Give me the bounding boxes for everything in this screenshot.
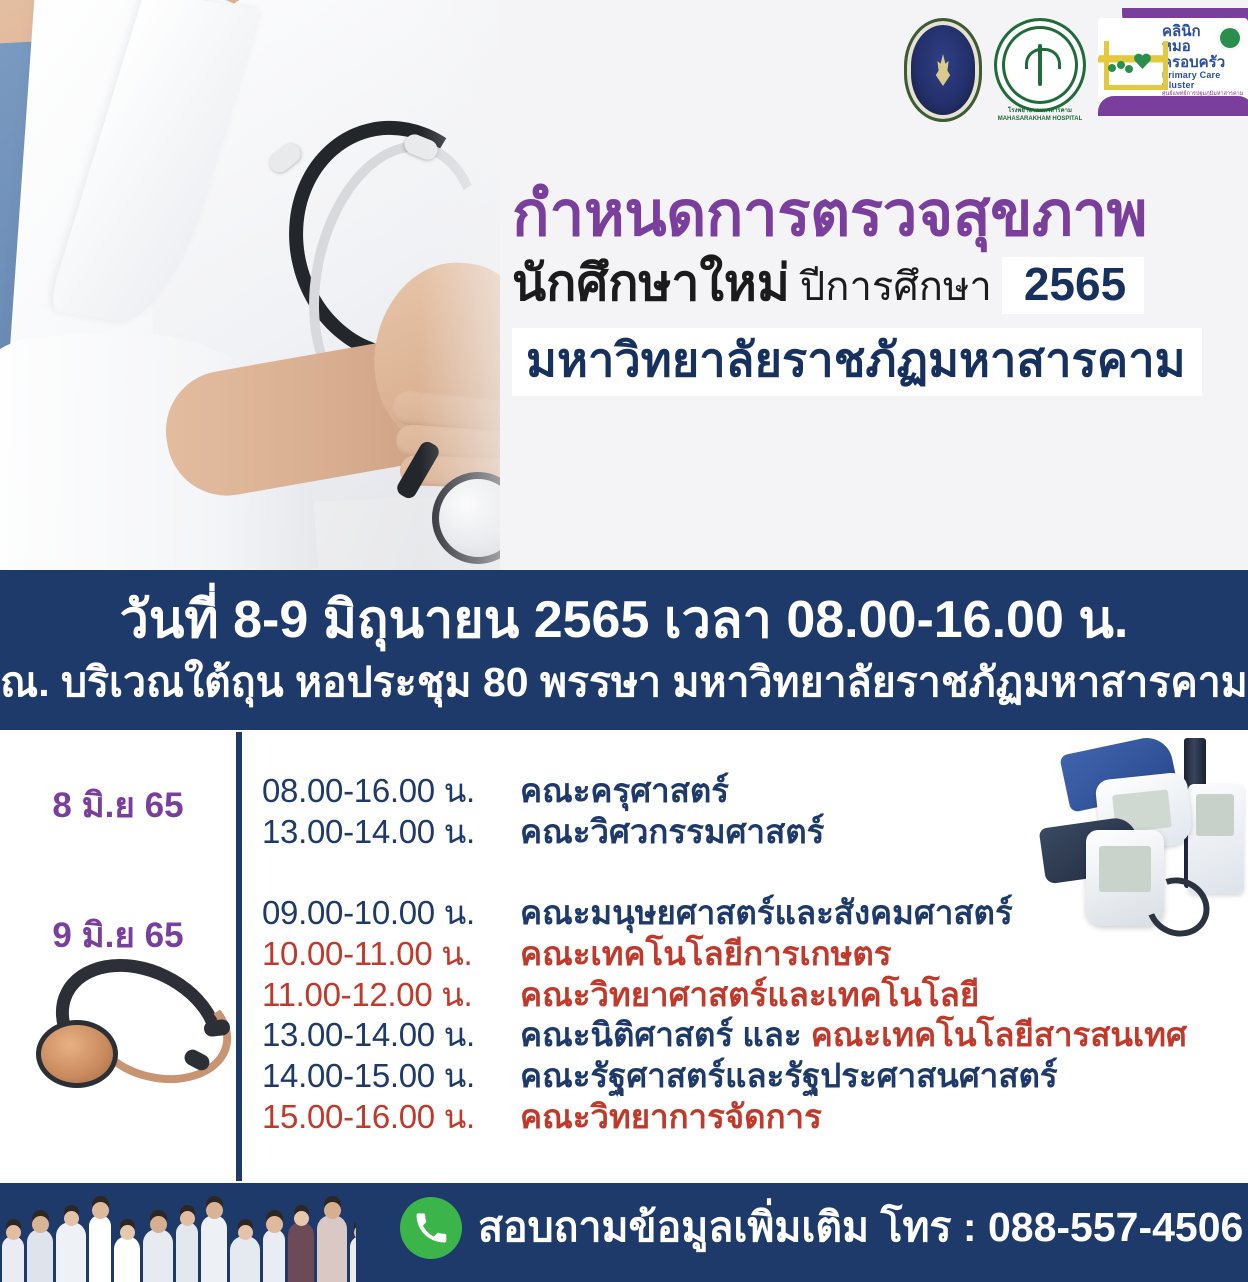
schedule-day-1: 8 มิ.ย 65 <box>0 778 236 833</box>
hospital-seal-icon <box>904 18 982 122</box>
row-time: 09.00-10.00 น. <box>262 896 520 930</box>
contact-text: สอบถามข้อมูลเพิ่มเติม โทร : 088-557-4506 <box>478 1205 1243 1250</box>
staff-person-head <box>266 1216 283 1233</box>
row-faculty: คณะรัฐศาสตร์และรัฐประศาสนศาสตร์ <box>520 1059 1058 1093</box>
hospital-caption-th: โรงพยาบาลมหาสารคาม <box>994 108 1086 116</box>
headline-block: กำหนดการตรวจสุขภาพ นักศึกษาใหม่ ปีการศึก… <box>512 178 1248 396</box>
primary-care-cluster-logo: คลินิก หมอครอบครัว Primary Care Cluster … <box>1098 18 1248 104</box>
schedule-row: 14.00-15.00 น. คณะรัฐศาสตร์และรัฐประศาสน… <box>262 1059 1248 1093</box>
schedule-row: 11.00-12.00 น. คณะวิทยาศาสตร์และเทคโนโลย… <box>262 978 1248 1012</box>
staff-person-head <box>150 1216 167 1233</box>
family-icon <box>1108 55 1134 81</box>
row-time: 15.00-16.00 น. <box>262 1100 520 1134</box>
row-time: 08.00-16.00 น. <box>262 774 520 808</box>
staff-person-head <box>238 1225 253 1240</box>
staff-person-head <box>294 1211 309 1226</box>
new-students-label: นักศึกษาใหม่ <box>512 255 790 311</box>
hero-photo-fade <box>420 0 500 570</box>
staff-person <box>317 1215 347 1282</box>
staff-person-head <box>92 1202 109 1219</box>
headline-line2: นักศึกษาใหม่ ปีการศึกษา 2565 <box>512 255 1248 314</box>
staff-person <box>143 1229 173 1282</box>
ministry-of-public-health-logo: โรงพยาบาลมหาสารคาม MAHASARAKHAM HOSPITAL <box>994 18 1086 112</box>
staff-person <box>201 1215 227 1282</box>
row-faculty-secondary: คณะเทคโนโลยีสารสนเทศ <box>811 1016 1187 1053</box>
staff-person <box>56 1222 86 1282</box>
staff-person-head <box>6 1225 21 1240</box>
academic-year-value: 2565 <box>1002 257 1144 314</box>
bp-wall-unit <box>1188 784 1244 894</box>
stethoscope-image <box>26 958 226 1098</box>
pcc-card: คลินิก หมอครอบครัว Primary Care Cluster … <box>1098 18 1248 104</box>
page-title: กำหนดการตรวจสุขภาพ <box>512 178 1248 251</box>
row-faculty: คณะครุศาสตร์ <box>520 774 729 808</box>
staff-person <box>350 1236 356 1282</box>
staff-person-head <box>180 1211 195 1226</box>
banner-venue-line: ณ. บริเวณใต้ถุน หอประชุม 80 พรรษา มหาวิท… <box>0 649 1248 706</box>
staff-person-head <box>64 1211 79 1226</box>
house-icon <box>1104 35 1158 87</box>
row-faculty: คณะมนุษยศาสตร์และสังคมศาสตร์ <box>520 896 1013 930</box>
medical-emblem-icon <box>1218 26 1242 50</box>
schedule-section: 8 มิ.ย 65 9 มิ.ย 65 08.00-16.00 น. คณะคร… <box>0 730 1248 1183</box>
phone-icon[interactable] <box>400 1197 462 1259</box>
schedule-row: 10.00-11.00 น. คณะเทคโนโลยีการเกษตร <box>262 937 1248 971</box>
poster-root: โรงพยาบาลมหาสารคาม MAHASARAKHAM HOSPITAL… <box>0 0 1248 1282</box>
hospital-caption-en: MAHASARAKHAM HOSPITAL <box>994 116 1086 124</box>
footer-section: สอบถามข้อมูลเพิ่มเติม โทร : 088-557-4506 <box>0 1183 1248 1282</box>
academic-year-label: ปีการศึกษา <box>800 265 992 310</box>
schedule-day-2: 9 มิ.ย 65 <box>0 908 236 963</box>
day-label: 9 มิ.ย 65 <box>0 908 236 963</box>
caduceus-seal-icon <box>994 18 1086 112</box>
row-time: 10.00-11.00 น. <box>262 937 520 971</box>
staff-person <box>2 1236 24 1282</box>
doctor-photo <box>0 0 500 570</box>
row-faculty: คณะเทคโนโลยีการเกษตร <box>520 937 892 971</box>
staff-person-head <box>206 1202 223 1219</box>
date-banner: วันที่ 8-9 มิถุนายน 2565 เวลา 08.00-16.0… <box>0 570 1248 730</box>
row-faculty-primary: คณะนิติศาสตร์ และ <box>520 1016 811 1053</box>
stethoscope-bell <box>36 1020 118 1088</box>
staff-person-head <box>32 1216 49 1233</box>
staff-person <box>263 1229 285 1282</box>
schedule-row: 15.00-16.00 น. คณะวิทยาการจัดการ <box>262 1100 1248 1134</box>
banner-date-line: วันที่ 8-9 มิถุนายน 2565 เวลา 08.00-16.0… <box>0 570 1248 649</box>
schedule-row: 13.00-14.00 น. คณะนิติศาสตร์ และ คณะเทคโ… <box>262 1018 1248 1052</box>
hero-section: โรงพยาบาลมหาสารคาม MAHASARAKHAM HOSPITAL… <box>0 0 1248 570</box>
row-time: 14.00-15.00 น. <box>262 1059 520 1093</box>
royal-crown-icon <box>933 54 953 86</box>
logo-row: โรงพยาบาลมหาสารคาม MAHASARAKHAM HOSPITAL… <box>904 18 1248 122</box>
staff-person-head <box>120 1225 135 1240</box>
staff-person <box>288 1222 314 1282</box>
row-faculty: คณะนิติศาสตร์ และ คณะเทคโนโลยีสารสนเทศ <box>520 1018 1187 1052</box>
university-name: มหาวิทยาลัยราชภัฏมหาสารคาม <box>512 328 1202 397</box>
medical-staff-group-photo <box>0 1183 356 1282</box>
row-faculty: คณะวิศวกรรมศาสตร์ <box>520 815 824 849</box>
pcc-title-en: Primary Care Cluster <box>1162 70 1248 90</box>
staff-person <box>230 1236 260 1282</box>
caduceus-icon <box>1025 42 1055 88</box>
hospital-caption: โรงพยาบาลมหาสารคาม MAHASARAKHAM HOSPITAL <box>994 108 1086 123</box>
hospital-seal-logo <box>904 18 982 122</box>
staff-person <box>176 1222 198 1282</box>
row-time: 11.00-12.00 น. <box>262 978 520 1012</box>
day-label: 8 มิ.ย 65 <box>0 778 236 833</box>
schedule-divider <box>236 732 242 1181</box>
row-faculty: คณะวิทยาการจัดการ <box>520 1100 822 1134</box>
staff-person-head <box>324 1202 341 1219</box>
staff-person <box>89 1215 111 1282</box>
contact-block: สอบถามข้อมูลเพิ่มเติม โทร : 088-557-4506 <box>400 1197 1243 1259</box>
blood-pressure-monitor-image <box>1038 738 1238 928</box>
row-time: 13.00-14.00 น. <box>262 815 520 849</box>
purple-arc-bottom <box>1098 96 1248 116</box>
staff-person <box>114 1236 140 1282</box>
row-time: 13.00-14.00 น. <box>262 1018 520 1052</box>
staff-person <box>27 1229 53 1282</box>
row-faculty: คณะวิทยาศาสตร์และเทคโนโลยี <box>520 978 979 1012</box>
